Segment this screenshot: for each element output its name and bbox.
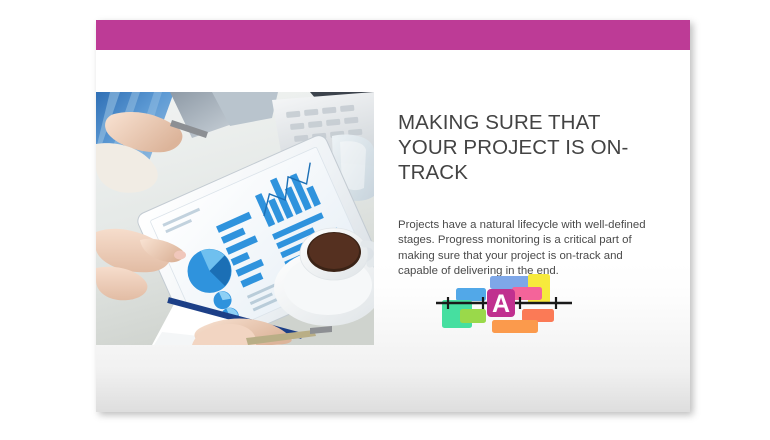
slide-text-column: MAKING SURE THAT YOUR PROJECT IS ON-TRAC…: [398, 110, 648, 280]
gantt-bar-lime: [460, 309, 486, 323]
gantt-bar-orange-lower: [492, 320, 538, 333]
logo-letter-a: A: [492, 290, 510, 318]
gantt-bar-blue-left: [456, 288, 486, 301]
screenshot-stage: MAKING SURE THAT YOUR PROJECT IS ON-TRAC…: [0, 0, 770, 440]
page-title: MAKING SURE THAT YOUR PROJECT IS ON-TRAC…: [398, 110, 648, 185]
business-meeting-tablet-photo: [96, 92, 374, 345]
presentation-slide: MAKING SURE THAT YOUR PROJECT IS ON-TRAC…: [96, 20, 690, 412]
slide-body-text: Projects have a natural lifecycle with w…: [398, 185, 648, 280]
magenta-header-band: [96, 20, 690, 50]
logo-tile-a: A: [487, 289, 515, 318]
gantt-bar-pink: [512, 287, 542, 300]
project-timeline-gantt-graphic: A: [434, 268, 574, 340]
